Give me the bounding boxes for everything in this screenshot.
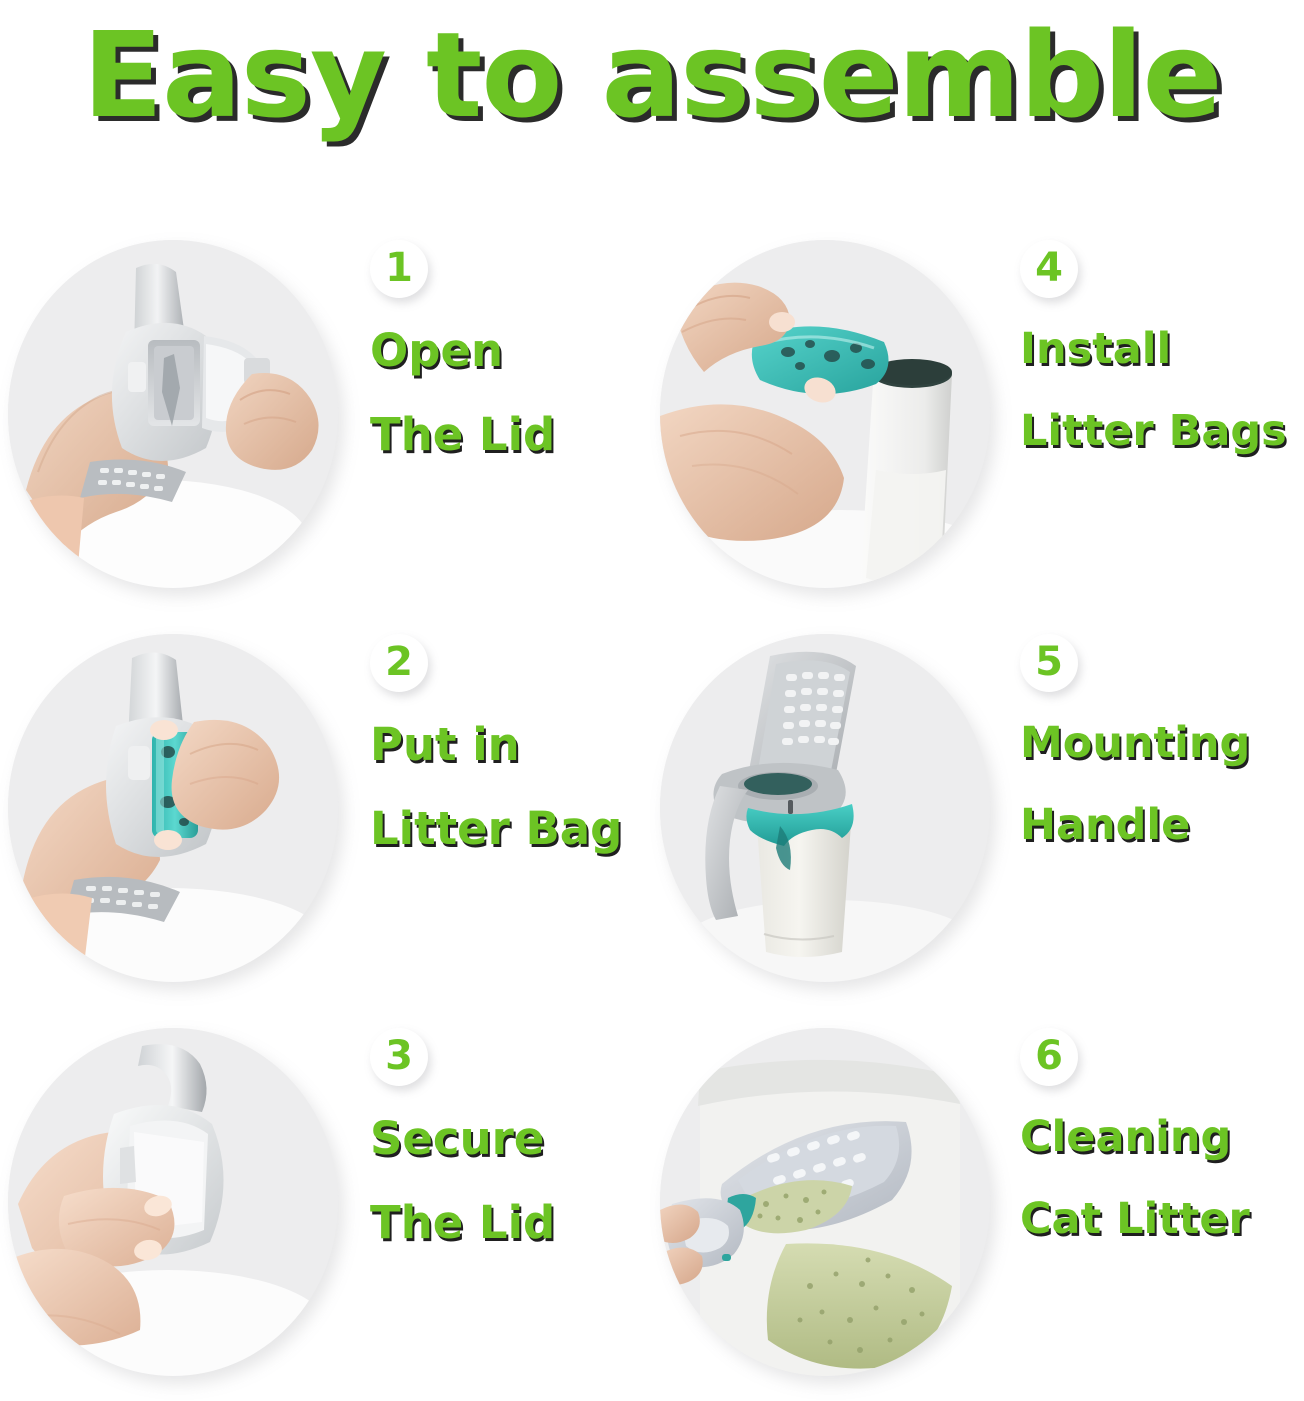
- step-label-line-2b: Litter Bag: [370, 806, 670, 851]
- step-label-1: Open The Lid: [370, 328, 670, 457]
- step-text-4: 4 Install Litter Bags: [1010, 218, 1304, 612]
- step-badge-5: 5: [1020, 634, 1078, 692]
- step-label-line-5b: Handle: [1020, 804, 1304, 847]
- step-number-2: 2: [385, 642, 413, 682]
- step-label-5: Mounting Handle: [1020, 722, 1304, 847]
- step-label-line-1b: The Lid: [370, 412, 670, 457]
- step-badge-3: 3: [370, 1028, 428, 1086]
- step-label-6: Cleaning Cat Litter: [1020, 1116, 1304, 1241]
- step-badge-1: 1: [370, 240, 428, 298]
- step-card-2: 2 Put in Litter Bag: [0, 612, 652, 1006]
- step-label-line-3b: The Lid: [370, 1200, 670, 1245]
- step-label-line-6b: Cat Litter: [1020, 1198, 1304, 1241]
- assembly-steps-grid: 1 Open The Lid: [0, 218, 1304, 1401]
- step-card-3: 3 Secure The Lid: [0, 1006, 652, 1400]
- step-badge-2: 2: [370, 634, 428, 692]
- step-number-4: 4: [1035, 248, 1063, 288]
- step-text-5: 5 Mounting Handle: [1010, 612, 1304, 1006]
- step-card-4: 4 Install Litter Bags: [652, 218, 1304, 612]
- step-card-1: 1 Open The Lid: [0, 218, 652, 612]
- step-text-2: 2 Put in Litter Bag: [360, 612, 652, 1006]
- step-number-5: 5: [1035, 642, 1063, 682]
- step-photo-scoop-mounted-on-bin: [660, 634, 990, 982]
- step-card-5: 5 Mounting Handle: [652, 612, 1304, 1006]
- step-label-3: Secure The Lid: [370, 1116, 670, 1245]
- step-label-line-5a: Mounting: [1020, 722, 1304, 765]
- step-text-1: 1 Open The Lid: [360, 218, 652, 612]
- step-number-1: 1: [385, 248, 413, 288]
- step-label-4: Install Litter Bags: [1020, 328, 1304, 453]
- step-photo-hands-closing-lid: [8, 1028, 338, 1376]
- step-photo-scoop-sifting-litter: [660, 1028, 990, 1376]
- step-photo-hands-opening-lid: [8, 240, 338, 588]
- step-label-line-4a: Install: [1020, 328, 1304, 371]
- step-label-line-3a: Secure: [370, 1116, 670, 1161]
- step-label-line-1a: Open: [370, 328, 670, 373]
- step-photo-hands-inserting-bag-roll: [8, 634, 338, 982]
- step-text-6: 6 Cleaning Cat Litter: [1010, 1006, 1304, 1400]
- step-number-6: 6: [1035, 1036, 1063, 1076]
- step-badge-4: 4: [1020, 240, 1078, 298]
- step-text-3: 3 Secure The Lid: [360, 1006, 652, 1400]
- step-label-line-4b: Litter Bags: [1020, 410, 1304, 453]
- step-photo-hands-installing-bag-in-bin: [660, 240, 990, 588]
- step-label-line-2a: Put in: [370, 722, 670, 767]
- step-card-6: 6 Cleaning Cat Litter: [652, 1006, 1304, 1400]
- page-title: Easy to assemble: [82, 16, 1221, 134]
- step-label-line-6a: Cleaning: [1020, 1116, 1304, 1159]
- step-label-2: Put in Litter Bag: [370, 722, 670, 851]
- step-badge-6: 6: [1020, 1028, 1078, 1086]
- title-bar: Easy to assemble: [0, 0, 1304, 150]
- step-number-3: 3: [385, 1036, 413, 1076]
